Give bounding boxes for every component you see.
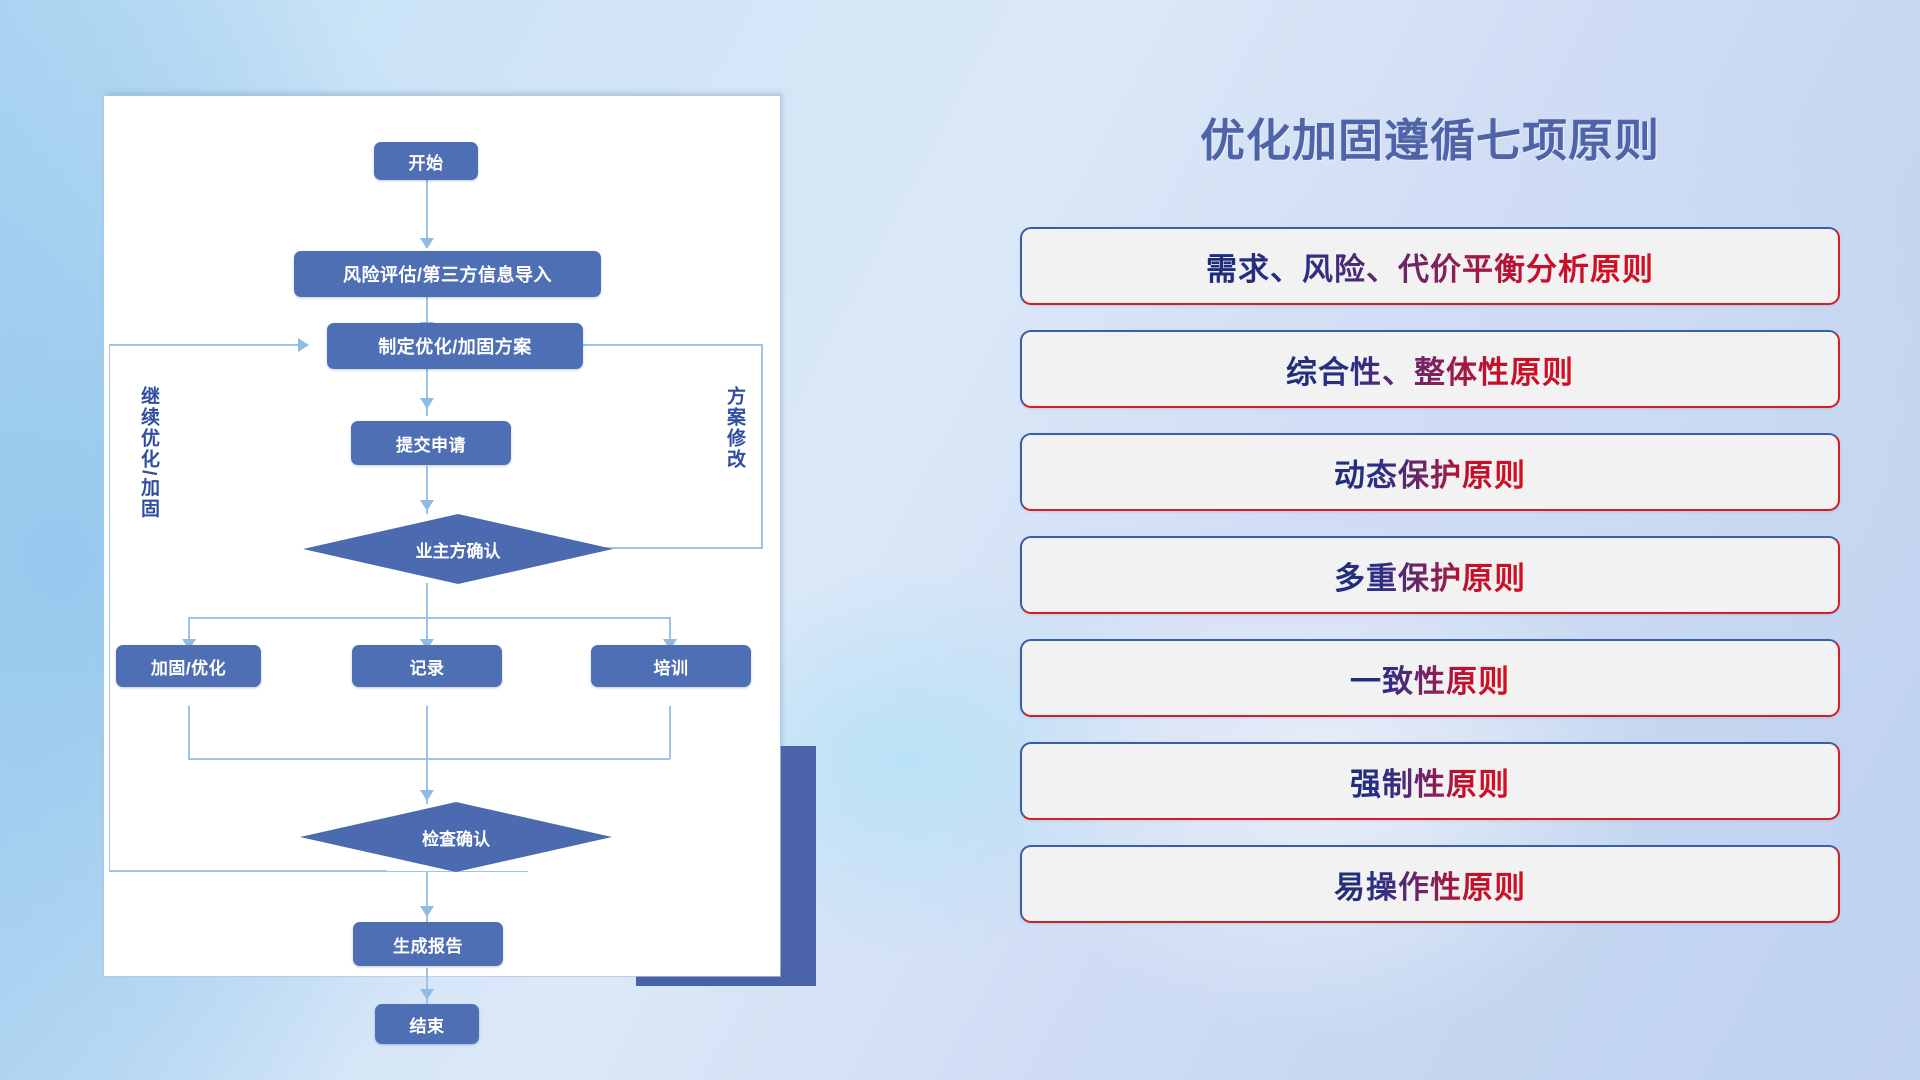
loop-label-plan-revision: 方案修改 bbox=[724, 386, 744, 470]
principle-card[interactable]: 一致性原则 bbox=[1020, 639, 1840, 717]
principle-card[interactable]: 综合性、整体性原则 bbox=[1020, 330, 1840, 408]
arrow-inspect-report bbox=[420, 906, 434, 917]
principle-card[interactable]: 需求、风险、代价平衡分析原则 bbox=[1020, 227, 1840, 305]
panel-title: 优化加固遵循七项原则 bbox=[1020, 104, 1840, 169]
principle-label: 易操作性原则 bbox=[1334, 862, 1526, 907]
principle-card[interactable]: 易操作性原则 bbox=[1020, 845, 1840, 923]
principle-card[interactable]: 强制性原则 bbox=[1020, 742, 1840, 820]
principle-label: 多重保护原则 bbox=[1334, 553, 1526, 598]
line-start-risk bbox=[426, 178, 428, 246]
principle-card[interactable]: 多重保护原则 bbox=[1020, 536, 1840, 614]
principle-card[interactable]: 动态保护原则 bbox=[1020, 433, 1840, 511]
loop-right-top-line bbox=[582, 344, 763, 346]
flow-node-training[interactable]: 培训 bbox=[591, 645, 751, 687]
principles-card-list: 需求、风险、代价平衡分析原则 综合性、整体性原则 动态保护原则 多重保护原则 一… bbox=[1020, 227, 1840, 948]
flow-node-record[interactable]: 记录 bbox=[352, 645, 502, 687]
flow-node-start[interactable]: 开始 bbox=[374, 142, 478, 180]
flow-node-risk-assessment[interactable]: 风险评估/第三方信息导入 bbox=[294, 251, 601, 297]
arrow-submit-owner bbox=[420, 500, 434, 511]
principle-label: 强制性原则 bbox=[1350, 759, 1510, 804]
line-owner-bus bbox=[426, 583, 428, 619]
principles-panel: 优化加固遵循七项原则 需求、风险、代价平衡分析原则 综合性、整体性原则 动态保护… bbox=[1020, 80, 1840, 1010]
principle-label: 需求、风险、代价平衡分析原则 bbox=[1206, 244, 1654, 289]
flowchart-card: 开始 风险评估/第三方信息导入 制定优化/加固方案 提交申请 业主方确认 加固/… bbox=[104, 96, 780, 976]
principle-label: 动态保护原则 bbox=[1334, 450, 1526, 495]
loop-left-bottom-line bbox=[109, 870, 387, 872]
flowchart-stage: 开始 风险评估/第三方信息导入 制定优化/加固方案 提交申请 业主方确认 加固/… bbox=[104, 96, 780, 976]
loop-left-arrow bbox=[298, 338, 309, 352]
line-training-merge bbox=[669, 706, 671, 759]
arrow-report-end bbox=[420, 989, 434, 1000]
arrow-merge-inspect bbox=[420, 790, 434, 801]
arrow-start-risk bbox=[420, 238, 434, 249]
flow-node-end[interactable]: 结束 bbox=[375, 1004, 479, 1044]
flow-node-submit[interactable]: 提交申请 bbox=[351, 421, 511, 465]
loop-label-continue-optimize: 继续优化/加固 bbox=[138, 386, 158, 519]
merge-bus bbox=[188, 758, 670, 760]
flow-node-report[interactable]: 生成报告 bbox=[353, 922, 503, 966]
flow-node-plan[interactable]: 制定优化/加固方案 bbox=[327, 323, 583, 369]
principle-label: 综合性、整体性原则 bbox=[1286, 347, 1574, 392]
fanout-bus bbox=[188, 617, 670, 619]
flow-node-reinforce[interactable]: 加固/优化 bbox=[116, 645, 261, 687]
line-reinforce-merge bbox=[188, 706, 190, 759]
principle-label: 一致性原则 bbox=[1350, 656, 1510, 701]
loop-right-vertical-line bbox=[761, 344, 763, 548]
loop-left-top-line bbox=[109, 344, 299, 346]
arrow-plan-submit bbox=[420, 398, 434, 409]
